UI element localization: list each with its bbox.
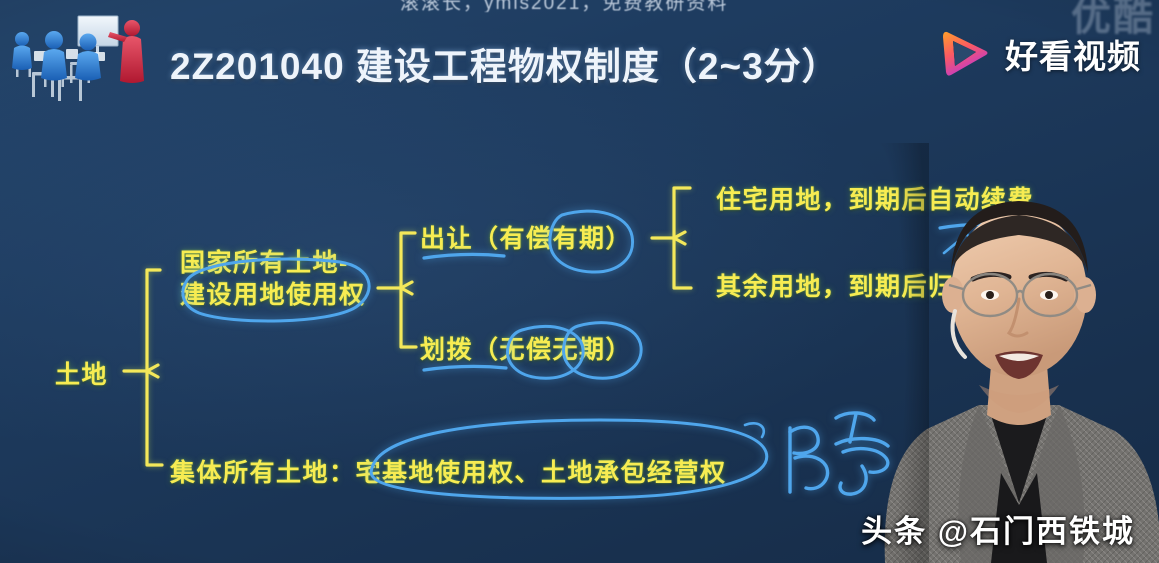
annotation-underline-huabo [424,366,506,370]
slide-title: 2Z201040 建设工程物权制度（2~3分） [170,36,840,90]
mindmap-node-state-owned-line2: 建设用地使用权 [180,275,366,311]
mindmap-node-huabo: 划拨（无偿无期） [420,330,632,366]
mindmap-node-collective-owned: 集体所有土地：宅基地使用权、土地承包经营权 [170,453,727,489]
channel-watermark: 头条 @石门西铁城 [861,506,1135,551]
haokan-logo[interactable]: 好看视频 [934,24,1141,84]
cropped-header-text: 滚滚长，ymls2021，免费教研资料 [400,0,870,12]
video-frame: 滚滚长，ymls2021，免费教研资料 [0,0,1159,563]
annotation-ellipse-tail [745,423,764,437]
classroom-presentation-clipart [4,6,152,106]
play-triangle-icon [934,24,994,84]
haokan-logo-text: 好看视频 [1005,30,1141,78]
mindmap-root-label: 土地 [55,355,108,391]
mindmap-node-chuangrang: 出让（有偿有期） [420,219,632,255]
mindmap-node-state-owned-line1: 国家所有土地- [180,243,349,279]
presenter-video-overlay [869,143,1159,563]
